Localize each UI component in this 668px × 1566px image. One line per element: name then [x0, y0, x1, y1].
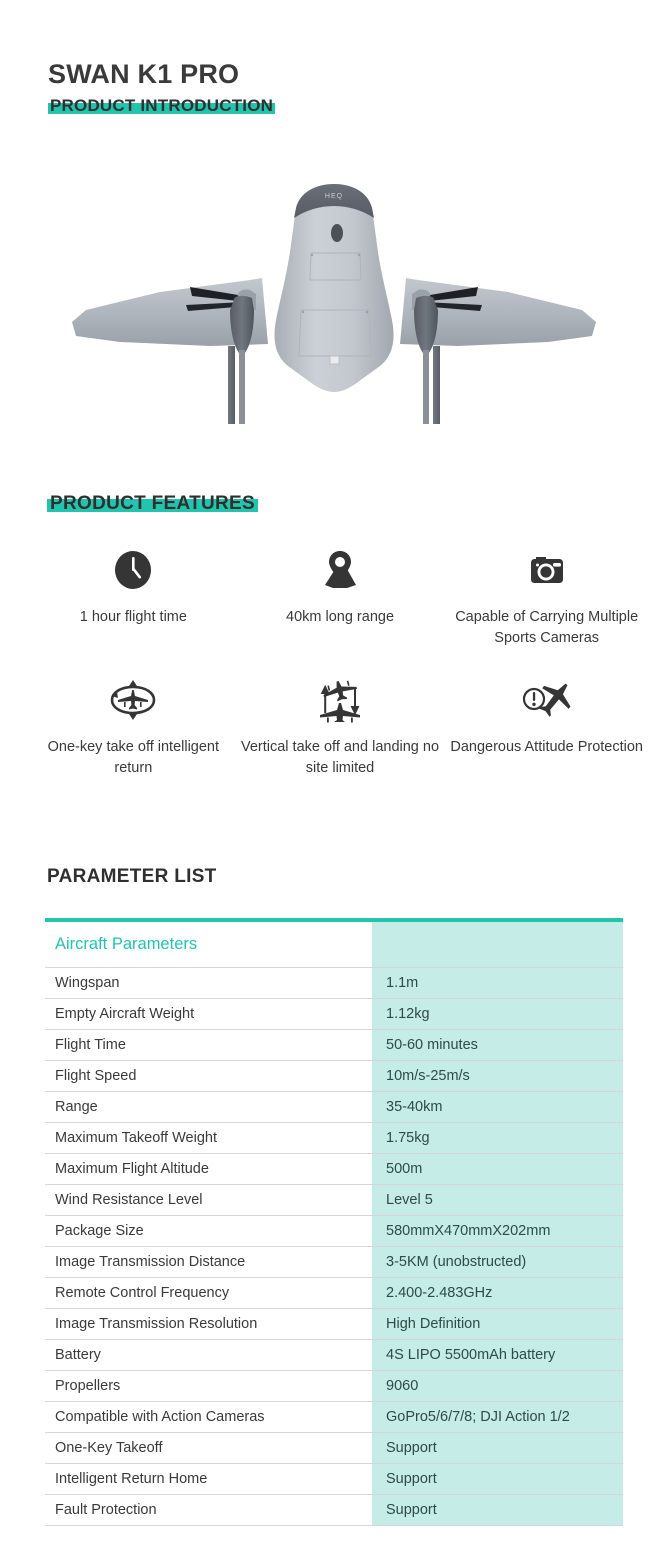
feature-label: Vertical take off and landing no site li…: [240, 737, 440, 779]
table-row: Battery 4S LIPO 5500mAh battery: [45, 1340, 623, 1371]
param-name: Intelligent Return Home: [45, 1464, 372, 1495]
param-value: 3-5KM (unobstructed): [372, 1247, 623, 1278]
hatch-screw: [358, 254, 360, 256]
param-name: Flight Time: [45, 1030, 372, 1061]
param-value: Support: [372, 1464, 623, 1495]
param-name: Wingspan: [45, 968, 372, 999]
table-row: Propellers 9060: [45, 1371, 623, 1402]
param-value: Support: [372, 1433, 623, 1464]
feature-item-cameras: Capable of Carrying Multiple Sports Came…: [443, 545, 650, 649]
left-landing-leg-inner: [239, 350, 245, 424]
subtitle-highlight-wrap: PRODUCT INTRODUCTION: [48, 96, 275, 116]
table-header-name: Aircraft Parameters: [45, 922, 372, 968]
param-value: 4S LIPO 5500mAh battery: [372, 1340, 623, 1371]
map-pin-icon: [317, 545, 363, 595]
feature-item-flight-time: 1 hour flight time: [30, 545, 237, 649]
drone-illustration: HEQ: [0, 160, 668, 440]
features-row-1: 1 hour flight time 40km long range: [30, 545, 650, 649]
table-header-value: [372, 922, 623, 968]
param-value: GoPro5/6/7/8; DJI Action 1/2: [372, 1402, 623, 1433]
param-value: Level 5: [372, 1185, 623, 1216]
product-hero-image: HEQ: [0, 160, 668, 440]
feature-item-long-range: 40km long range: [237, 545, 444, 649]
param-name: Package Size: [45, 1216, 372, 1247]
param-name: Wind Resistance Level: [45, 1185, 372, 1216]
param-value: 9060: [372, 1371, 623, 1402]
param-name: Image Transmission Distance: [45, 1247, 372, 1278]
right-landing-leg-inner: [423, 350, 429, 424]
feature-label: Dangerous Attitude Protection: [450, 737, 643, 758]
feature-label: 1 hour flight time: [80, 607, 187, 628]
feature-label: 40km long range: [286, 607, 394, 628]
nose-logo-text: HEQ: [325, 193, 343, 200]
param-value: 500m: [372, 1154, 623, 1185]
param-name: Remote Control Frequency: [45, 1278, 372, 1309]
parameter-table: Aircraft Parameters Wingspan 1.1m Empty …: [45, 918, 623, 1526]
table-row: Package Size 580mmX470mmX202mm: [45, 1216, 623, 1247]
page-subtitle: PRODUCT INTRODUCTION: [50, 96, 273, 115]
page-header: SWAN K1 PRO PRODUCT INTRODUCTION: [48, 58, 275, 116]
features-heading-text: PRODUCT FEATURES: [50, 493, 255, 514]
page-title: SWAN K1 PRO: [48, 58, 275, 90]
table-row: Wingspan 1.1m: [45, 968, 623, 999]
features-grid: 1 hour flight time 40km long range: [30, 545, 650, 779]
table-row: Image Transmission Distance 3-5KM (unobs…: [45, 1247, 623, 1278]
param-value: Support: [372, 1495, 623, 1526]
camera-dome: [331, 224, 343, 242]
hatch-screw: [302, 311, 304, 313]
table-row: Flight Time 50-60 minutes: [45, 1030, 623, 1061]
param-value: 10m/s-25m/s: [372, 1061, 623, 1092]
table-row: Empty Aircraft Weight 1.12kg: [45, 999, 623, 1030]
table-row: Compatible with Action Cameras GoPro5/6/…: [45, 1402, 623, 1433]
feature-item-one-key-takeoff: One-key take off intelligent return: [30, 675, 237, 779]
table-row: Maximum Flight Altitude 500m: [45, 1154, 623, 1185]
table-header-row: Aircraft Parameters: [45, 922, 623, 968]
feature-label: One-key take off intelligent return: [33, 737, 233, 779]
table-row: Remote Control Frequency 2.400-2.483GHz: [45, 1278, 623, 1309]
table-row: Image Transmission Resolution High Defin…: [45, 1309, 623, 1340]
table-row: Intelligent Return Home Support: [45, 1464, 623, 1495]
tail-port: [330, 356, 339, 364]
hatch-screw: [366, 311, 368, 313]
param-name: One-Key Takeoff: [45, 1433, 372, 1464]
parameter-list-heading: PARAMETER LIST: [47, 866, 217, 888]
param-name: Range: [45, 1092, 372, 1123]
feature-item-attitude-protection: Dangerous Attitude Protection: [443, 675, 650, 779]
features-row-2: One-key take off intelligent return: [30, 675, 650, 779]
table-row: One-Key Takeoff Support: [45, 1433, 623, 1464]
param-name: Empty Aircraft Weight: [45, 999, 372, 1030]
table-row: Wind Resistance Level Level 5: [45, 1185, 623, 1216]
param-value: 1.12kg: [372, 999, 623, 1030]
feature-label: Capable of Carrying Multiple Sports Came…: [447, 607, 647, 649]
table-row: Flight Speed 10m/s-25m/s: [45, 1061, 623, 1092]
param-name: Propellers: [45, 1371, 372, 1402]
param-value: 1.75kg: [372, 1123, 623, 1154]
param-value: 580mmX470mmX202mm: [372, 1216, 623, 1247]
dangerous-attitude-icon: [521, 675, 573, 725]
param-name: Flight Speed: [45, 1061, 372, 1092]
param-value: High Definition: [372, 1309, 623, 1340]
param-value: 2.400-2.483GHz: [372, 1278, 623, 1309]
table-row: Fault Protection Support: [45, 1495, 623, 1526]
camera-icon: [524, 545, 570, 595]
param-name: Maximum Takeoff Weight: [45, 1123, 372, 1154]
param-name: Battery: [45, 1340, 372, 1371]
param-name: Compatible with Action Cameras: [45, 1402, 372, 1433]
product-features-heading: PRODUCT FEATURES: [47, 492, 258, 515]
param-value: 35-40km: [372, 1092, 623, 1123]
vertical-takeoff-icon: [314, 675, 366, 725]
right-landing-leg: [433, 346, 440, 424]
table-row: Maximum Takeoff Weight 1.75kg: [45, 1123, 623, 1154]
param-name: Fault Protection: [45, 1495, 372, 1526]
param-name: Maximum Flight Altitude: [45, 1154, 372, 1185]
clock-icon: [112, 545, 154, 595]
table-row: Range 35-40km: [45, 1092, 623, 1123]
param-value: 50-60 minutes: [372, 1030, 623, 1061]
param-name: Image Transmission Resolution: [45, 1309, 372, 1340]
one-key-takeoff-icon: [108, 675, 158, 725]
left-landing-leg: [228, 346, 235, 424]
param-value: 1.1m: [372, 968, 623, 999]
hatch-screw: [311, 254, 313, 256]
feature-item-vtol: Vertical take off and landing no site li…: [237, 675, 444, 779]
